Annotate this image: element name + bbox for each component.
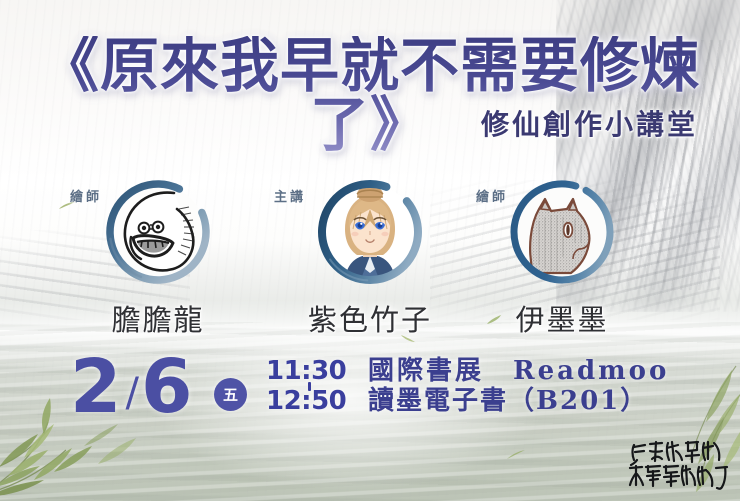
person-card: 繪師 — [462, 174, 662, 339]
event-time-range: 11:30 12:50 — [266, 356, 346, 416]
blob-monster-avatar-icon — [111, 185, 205, 279]
event-time-start: 11:30 — [266, 356, 346, 386]
brand-logo-icon — [626, 439, 730, 491]
poster-subtitle: 修仙創作小講堂 — [481, 103, 698, 143]
avatar — [102, 176, 214, 288]
avatar — [314, 176, 426, 288]
person-card: 主講 — [270, 174, 470, 339]
event-date: 2/6 — [70, 350, 192, 424]
date-separator: / — [126, 370, 139, 416]
time-range-dash — [308, 382, 311, 391]
event-month: 2 — [70, 344, 122, 430]
person-card: 繪師 — [58, 174, 258, 339]
person-role-label: 繪師 — [476, 186, 508, 205]
floating-leaf-icon — [506, 448, 526, 466]
speakers-row: 繪師 — [0, 174, 740, 324]
person-role-label: 主講 — [274, 186, 306, 205]
event-time-end: 12:50 — [266, 386, 346, 416]
venue-line-1: 國際書展 Readmoo — [368, 356, 669, 386]
event-day: 6 — [141, 344, 193, 430]
chibi-cultivator-avatar-icon — [323, 185, 417, 279]
avatar — [506, 176, 618, 288]
weekday-badge: 五 — [214, 378, 247, 411]
poster-canvas: 《原來我早就不需要修煉了》 修仙創作小講堂 繪師 — [0, 0, 740, 501]
person-role-label: 繪師 — [70, 186, 102, 205]
venue-line-2: 讀墨電子書（B201） — [368, 386, 669, 416]
person-name: 膽膽龍 — [58, 297, 258, 339]
cat-head-avatar-icon — [515, 185, 609, 279]
event-venue: 國際書展 Readmoo 讀墨電子書（B201） — [368, 356, 669, 416]
person-name: 紫色竹子 — [270, 297, 470, 339]
event-info: 2/6 五 11:30 12:50 國際書展 Readmoo 讀墨電子書（B20… — [0, 352, 740, 442]
person-name: 伊墨墨 — [462, 297, 662, 339]
